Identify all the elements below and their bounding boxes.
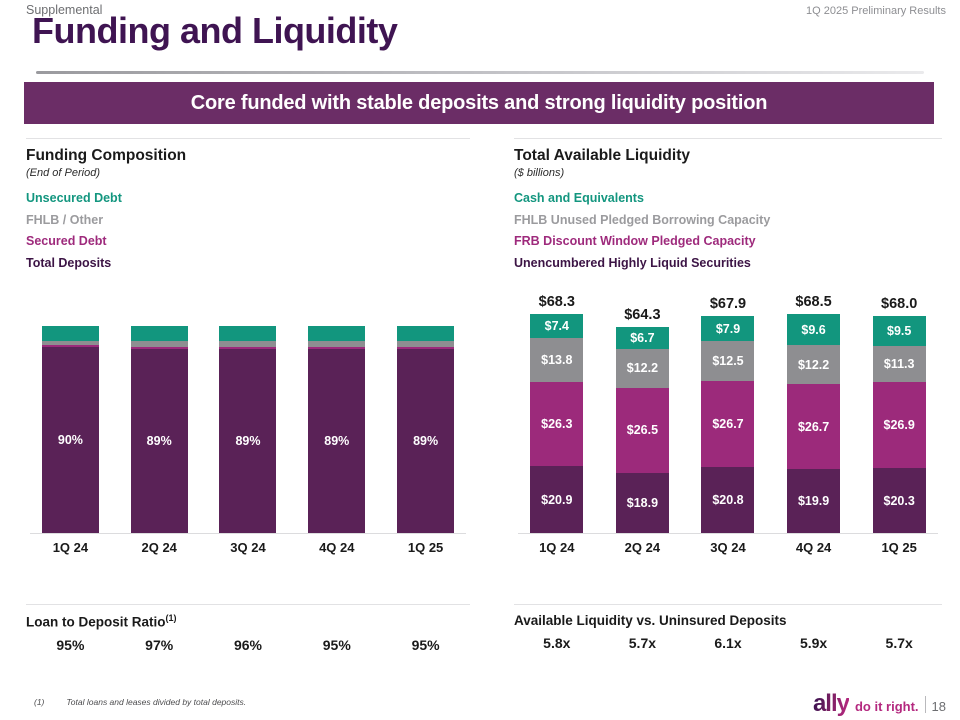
loan-to-deposit-ratio-row: Loan to Deposit Ratio(1) 95% 97% 96% 95%… bbox=[26, 604, 470, 653]
bar-segment: $20.9 bbox=[530, 466, 583, 533]
x-axis-label: 3Q 24 bbox=[685, 540, 771, 555]
metric-value: 6.1x bbox=[685, 635, 771, 651]
bar-column: $64.3$6.7$12.2$26.5$18.9 bbox=[600, 266, 686, 533]
bar-segment: $9.6 bbox=[787, 314, 840, 345]
panel-title-liquidity: Total Available Liquidity bbox=[514, 147, 942, 165]
footnote-text: Total loans and leases divided by total … bbox=[66, 697, 246, 707]
bar-stack: 89% bbox=[397, 326, 454, 533]
bar-segment: $13.8 bbox=[530, 338, 583, 382]
metric-value: 95% bbox=[292, 637, 381, 653]
bar-segment bbox=[219, 326, 276, 340]
bar-column: 89% bbox=[381, 278, 470, 533]
bar-segment: $19.9 bbox=[787, 469, 840, 533]
key-message-banner: Core funded with stable deposits and str… bbox=[24, 82, 934, 124]
bar-column: $67.9$7.9$12.5$26.7$20.8 bbox=[685, 266, 771, 533]
metrics-values-loan-to-deposit: 95% 97% 96% 95% 95% bbox=[26, 637, 470, 653]
metrics-title-liquidity-ratio: Available Liquidity vs. Uninsured Deposi… bbox=[514, 613, 942, 628]
bar-stack: $9.5$11.3$26.9$20.3 bbox=[873, 316, 926, 533]
funding-composition-panel: Funding Composition (End of Period) Unse… bbox=[26, 138, 470, 274]
bar-segment: $12.2 bbox=[616, 349, 669, 388]
bar-segment bbox=[308, 326, 365, 340]
ally-tagline: do it right. bbox=[855, 699, 919, 714]
bar-total-label: $67.9 bbox=[710, 296, 746, 312]
bar-segment: $18.9 bbox=[616, 473, 669, 533]
bar-segment: $12.5 bbox=[701, 341, 754, 381]
bar-segment: $26.5 bbox=[616, 388, 669, 473]
bar-column: 89% bbox=[204, 278, 293, 533]
page-number: 18 bbox=[932, 699, 946, 714]
x-axis-label: 4Q 24 bbox=[292, 540, 381, 555]
x-axis-labels: 1Q 242Q 243Q 244Q 241Q 25 bbox=[514, 540, 942, 555]
bar-segment bbox=[131, 326, 188, 340]
title-divider bbox=[36, 71, 924, 74]
x-axis-label: 3Q 24 bbox=[204, 540, 293, 555]
bar-stack: 90% bbox=[42, 326, 99, 533]
x-axis-label: 2Q 24 bbox=[600, 540, 686, 555]
metric-value: 96% bbox=[204, 637, 293, 653]
bar-total-label: $64.3 bbox=[624, 307, 660, 323]
legend-item-cash-and-equivalents: Cash and Equivalents bbox=[514, 188, 942, 210]
metric-value: 97% bbox=[115, 637, 204, 653]
metrics-values-liquidity-ratio: 5.8x 5.7x 6.1x 5.9x 5.7x bbox=[514, 635, 942, 651]
metric-value: 95% bbox=[381, 637, 470, 653]
bar-segment: $26.7 bbox=[701, 381, 754, 466]
panel-subtitle-liquidity: ($ billions) bbox=[514, 167, 942, 179]
legend-item-fhlb-unused-capacity: FHLB Unused Pledged Borrowing Capacity bbox=[514, 210, 942, 232]
legend-item-total-deposits: Total Deposits bbox=[26, 253, 470, 275]
chart-funding-composition: 90%89%89%89%89% 1Q 242Q 243Q 244Q 241Q 2… bbox=[26, 300, 470, 555]
footnote: (1) Total loans and leases divided by to… bbox=[34, 697, 246, 707]
metrics-title-text: Loan to Deposit Ratio bbox=[26, 615, 166, 630]
bar-column: $68.5$9.6$12.2$26.7$19.9 bbox=[771, 266, 857, 533]
metrics-title-loan-to-deposit: Loan to Deposit Ratio(1) bbox=[26, 613, 470, 630]
brand-footer: ally do it right. 18 bbox=[813, 690, 946, 718]
bar-segment: $12.2 bbox=[787, 345, 840, 384]
bar-column: 89% bbox=[115, 278, 204, 533]
bar-segment: $7.9 bbox=[701, 316, 754, 341]
bar-segment: $26.3 bbox=[530, 382, 583, 466]
chart-total-available-liquidity: $68.3$7.4$13.8$26.3$20.9$64.3$6.7$12.2$2… bbox=[514, 288, 942, 555]
bar-column: $68.0$9.5$11.3$26.9$20.3 bbox=[856, 266, 942, 533]
x-axis-label: 1Q 25 bbox=[856, 540, 942, 555]
bar-segment: 89% bbox=[219, 349, 276, 533]
bar-stack: $7.4$13.8$26.3$20.9 bbox=[530, 314, 583, 533]
bar-segment: $26.7 bbox=[787, 384, 840, 469]
x-axis-label: 1Q 25 bbox=[381, 540, 470, 555]
bar-segment: 89% bbox=[131, 349, 188, 533]
metric-value: 5.9x bbox=[771, 635, 857, 651]
legend-funding: Unsecured Debt FHLB / Other Secured Debt… bbox=[26, 188, 470, 274]
legend-item-secured-debt: Secured Debt bbox=[26, 231, 470, 253]
metrics-divider bbox=[26, 604, 470, 605]
bar-segment: 90% bbox=[42, 347, 99, 533]
bar-segment: 89% bbox=[397, 349, 454, 533]
footnote-marker: (1) bbox=[34, 697, 44, 707]
bar-stack: $7.9$12.5$26.7$20.8 bbox=[701, 316, 754, 533]
x-axis-label: 1Q 24 bbox=[514, 540, 600, 555]
bar-total-label: $68.0 bbox=[881, 296, 917, 312]
bar-segment: $7.4 bbox=[530, 314, 583, 338]
x-axis-label: 1Q 24 bbox=[26, 540, 115, 555]
legend-item-fhlb-other: FHLB / Other bbox=[26, 210, 470, 232]
bar-stack: 89% bbox=[131, 326, 188, 533]
panel-divider bbox=[26, 138, 470, 139]
banner-text: Core funded with stable deposits and str… bbox=[191, 92, 768, 115]
metric-value: 95% bbox=[26, 637, 115, 653]
page-title: Funding and Liquidity bbox=[32, 11, 397, 51]
metric-value: 5.7x bbox=[600, 635, 686, 651]
slide-header: Supplemental Funding and Liquidity 1Q 20… bbox=[0, 0, 960, 60]
x-axis-labels: 1Q 242Q 243Q 244Q 241Q 25 bbox=[26, 540, 470, 555]
bar-column: 90% bbox=[26, 278, 115, 533]
bar-segment bbox=[42, 326, 99, 340]
total-available-liquidity-panel: Total Available Liquidity ($ billions) C… bbox=[514, 138, 942, 274]
panel-divider bbox=[514, 138, 942, 139]
bar-stack: $9.6$12.2$26.7$19.9 bbox=[787, 314, 840, 533]
bar-segment: 89% bbox=[308, 349, 365, 533]
metrics-divider bbox=[514, 604, 942, 605]
panel-subtitle-funding: (End of Period) bbox=[26, 167, 470, 179]
deck-context-label: 1Q 2025 Preliminary Results bbox=[806, 5, 946, 17]
bar-segment: $20.3 bbox=[873, 468, 926, 533]
metric-value: 5.8x bbox=[514, 635, 600, 651]
footnote-ref: (1) bbox=[166, 613, 177, 623]
bar-segment: $26.9 bbox=[873, 382, 926, 468]
bar-segment bbox=[397, 326, 454, 340]
bar-segment: $6.7 bbox=[616, 327, 669, 348]
bar-column: $68.3$7.4$13.8$26.3$20.9 bbox=[514, 266, 600, 533]
footer-divider bbox=[925, 696, 926, 713]
available-liquidity-vs-uninsured-deposits-row: Available Liquidity vs. Uninsured Deposi… bbox=[514, 604, 942, 651]
bar-total-label: $68.3 bbox=[539, 294, 575, 310]
bar-group: 90%89%89%89%89% bbox=[26, 278, 470, 533]
bar-stack: 89% bbox=[219, 326, 276, 533]
x-axis-line bbox=[518, 533, 938, 534]
panel-title-funding: Funding Composition bbox=[26, 147, 470, 165]
bar-stack: 89% bbox=[308, 326, 365, 533]
bar-stack: $6.7$12.2$26.5$18.9 bbox=[616, 327, 669, 533]
ally-logo: ally bbox=[813, 690, 849, 718]
x-axis-label: 2Q 24 bbox=[115, 540, 204, 555]
bar-segment: $11.3 bbox=[873, 346, 926, 382]
bar-segment: $9.5 bbox=[873, 316, 926, 346]
bar-total-label: $68.5 bbox=[795, 294, 831, 310]
bar-column: 89% bbox=[292, 278, 381, 533]
legend-item-unsecured-debt: Unsecured Debt bbox=[26, 188, 470, 210]
metric-value: 5.7x bbox=[856, 635, 942, 651]
legend-liquidity: Cash and Equivalents FHLB Unused Pledged… bbox=[514, 188, 942, 274]
x-axis-label: 4Q 24 bbox=[771, 540, 857, 555]
x-axis-line bbox=[30, 533, 466, 534]
bar-group: $68.3$7.4$13.8$26.3$20.9$64.3$6.7$12.2$2… bbox=[514, 266, 942, 533]
legend-item-frb-discount-window: FRB Discount Window Pledged Capacity bbox=[514, 231, 942, 253]
bar-segment: $20.8 bbox=[701, 467, 754, 533]
